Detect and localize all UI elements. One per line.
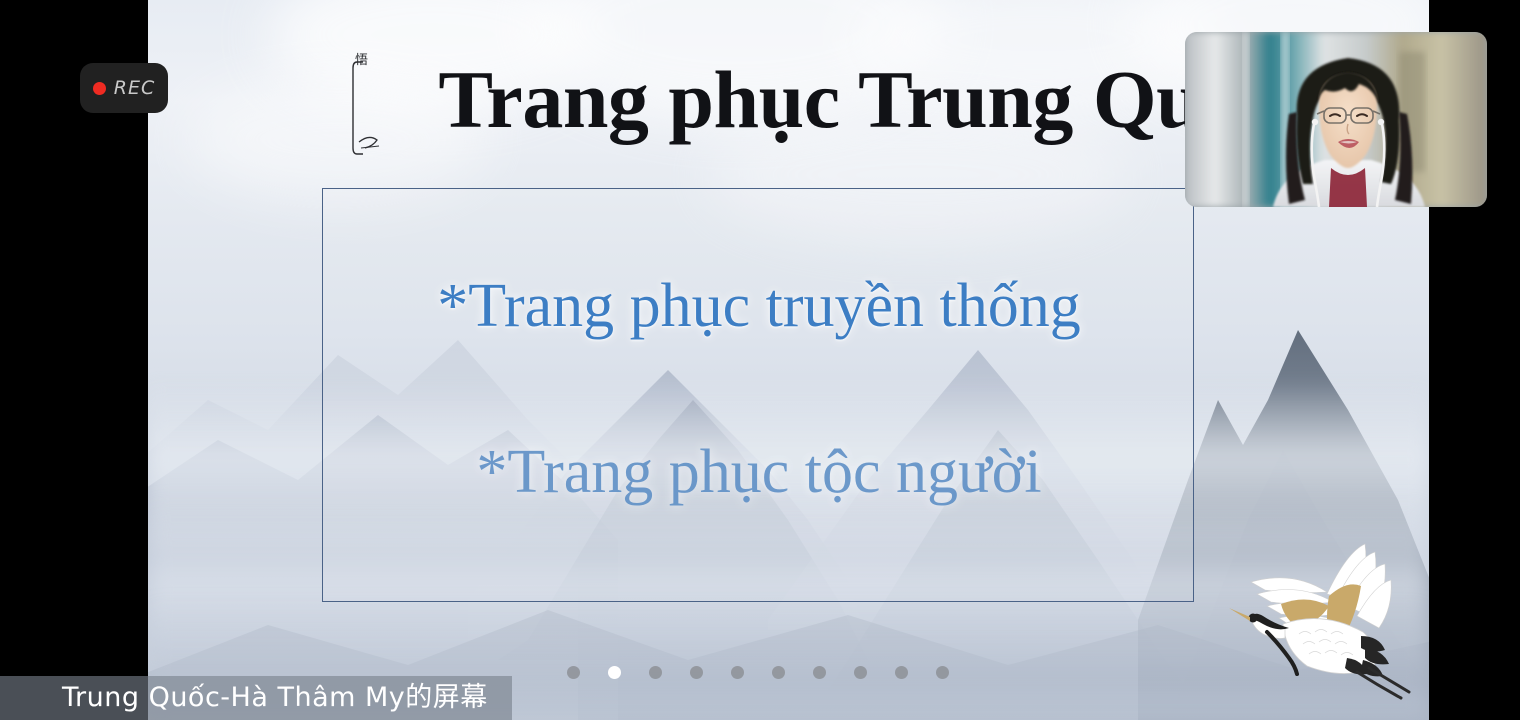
nav-dot[interactable] xyxy=(895,666,908,679)
record-dot-icon xyxy=(93,82,106,95)
nav-dot[interactable] xyxy=(813,666,826,679)
bullet-item-ethnic-clothing: *Trang phục tộc người xyxy=(323,437,1195,507)
share-label-text: Trung Quốc-Hà Thâm My的屏幕 xyxy=(62,676,488,720)
recording-indicator-badge: REC xyxy=(80,63,168,113)
nav-dot[interactable] xyxy=(567,666,580,679)
nav-dot[interactable] xyxy=(772,666,785,679)
crane-illustration xyxy=(1223,532,1429,717)
nav-dot[interactable] xyxy=(731,666,744,679)
participant-video-frame xyxy=(1185,32,1487,207)
recording-label: REC xyxy=(114,77,155,99)
nav-dot-active[interactable] xyxy=(608,666,621,679)
nav-dot[interactable] xyxy=(936,666,949,679)
nav-dot[interactable] xyxy=(690,666,703,679)
slide-content-box: *Trang phục truyền thống *Trang phục tộc… xyxy=(322,188,1194,602)
screen-share-view: 悟 雲 Trang phục Trung Quốc *Trang phục tr… xyxy=(0,0,1520,720)
bullet-item-traditional-clothing: *Trang phục truyền thống xyxy=(323,271,1195,341)
nav-dot[interactable] xyxy=(649,666,662,679)
nav-dot[interactable] xyxy=(854,666,867,679)
participant-video-tile[interactable] xyxy=(1185,32,1487,207)
